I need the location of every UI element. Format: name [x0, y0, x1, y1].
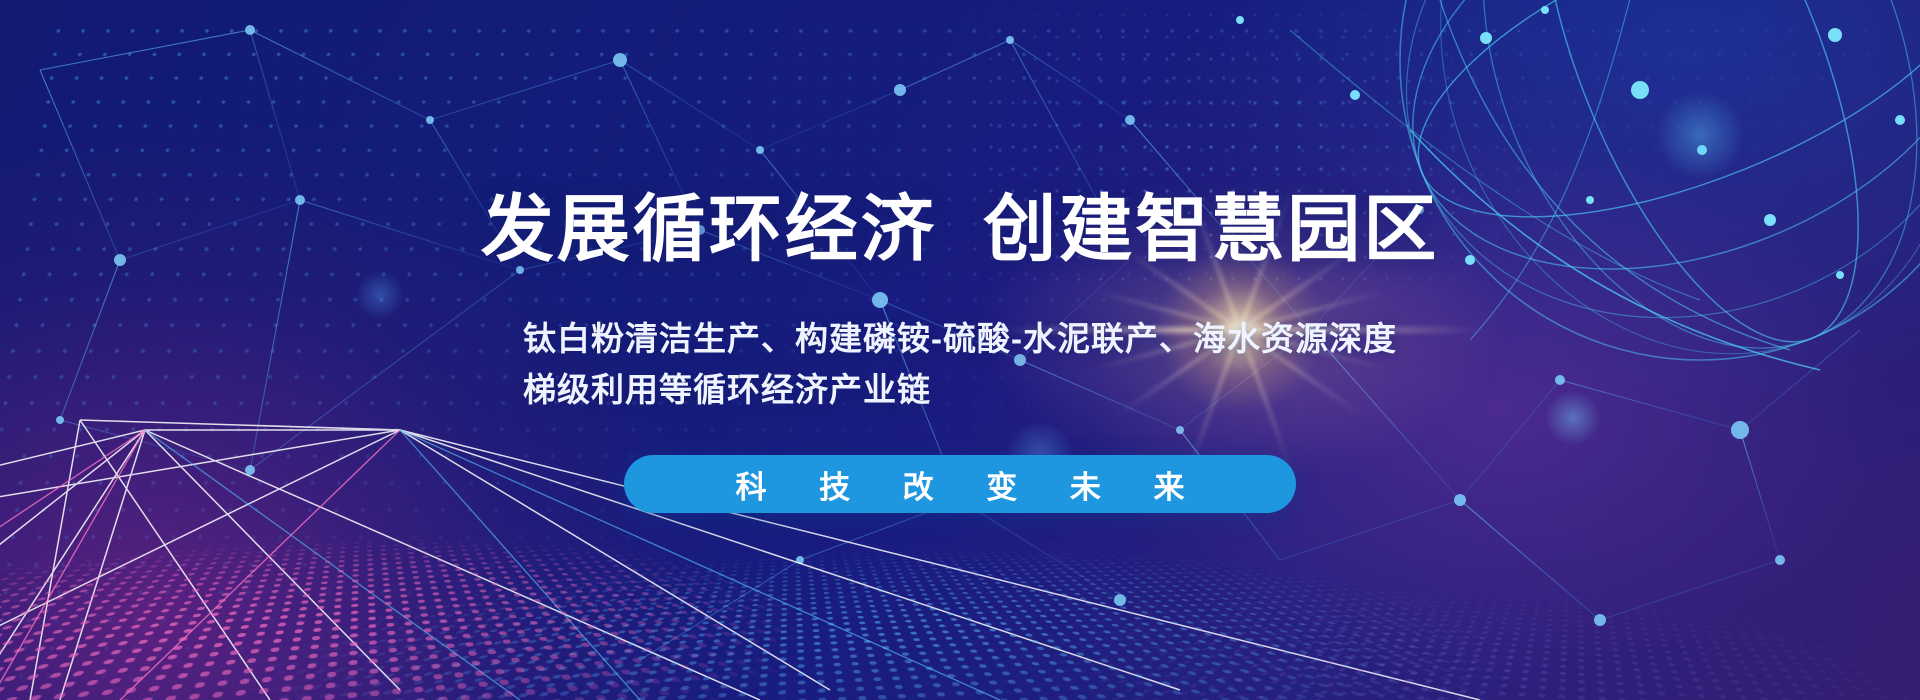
banner-subtitle: 钛白粉清洁生产、构建磷铵-硫酸-水泥联产、海水资源深度 梯级利用等循环经济产业链	[0, 313, 1920, 415]
cta-button[interactable]: 科 技 改 变 未 来	[624, 455, 1296, 513]
banner-subtitle-line-1: 钛白粉清洁生产、构建磷铵-硫酸-水泥联产、海水资源深度	[523, 313, 1397, 364]
banner-headline: 发展循环经济 创建智慧园区	[0, 193, 1920, 266]
banner-subtitle-line-2: 梯级利用等循环经济产业链	[523, 364, 1397, 415]
cta-button-label: 科 技 改 变 未 来	[713, 462, 1206, 507]
banner-content: 发展循环经济 创建智慧园区 钛白粉清洁生产、构建磷铵-硫酸-水泥联产、海水资源深…	[0, 0, 1920, 700]
hero-banner: 发展循环经济 创建智慧园区 钛白粉清洁生产、构建磷铵-硫酸-水泥联产、海水资源深…	[0, 0, 1920, 700]
